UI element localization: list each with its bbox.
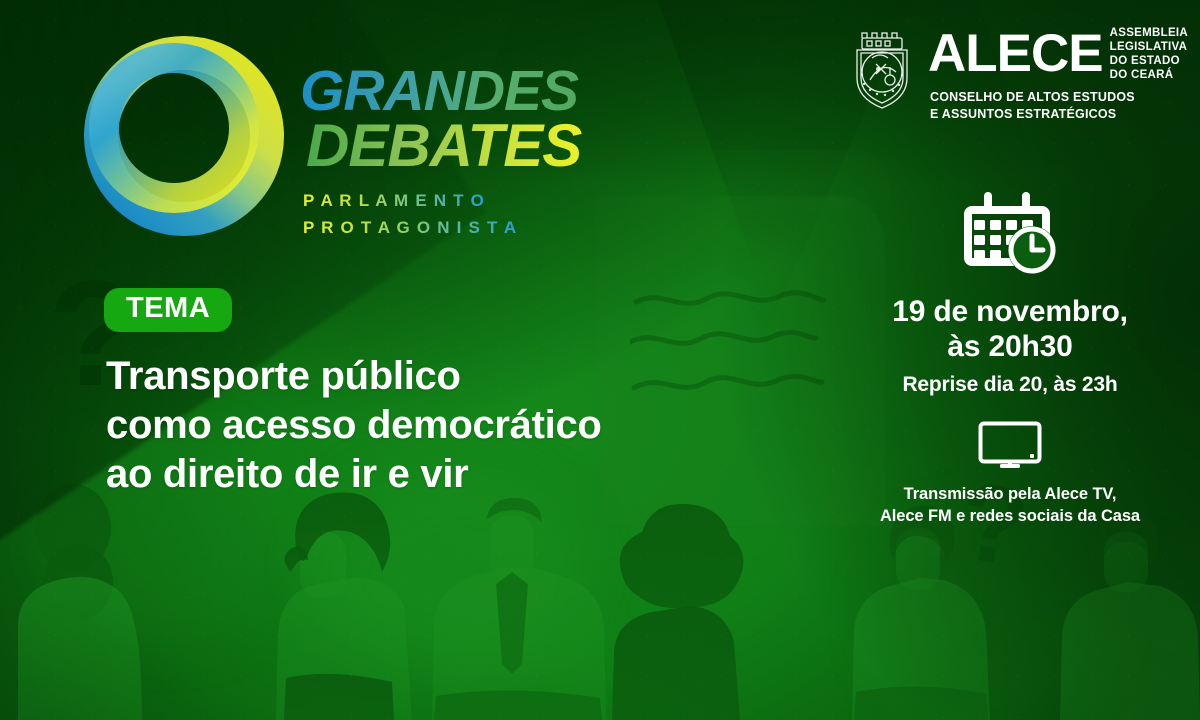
calendar-clock-icon	[964, 190, 1056, 276]
alece-subtitle-line-1: ASSEMBLEIA	[1110, 26, 1188, 40]
event-date-line-2: às 20h30	[840, 329, 1180, 364]
ceara-coat-of-arms-icon	[848, 28, 916, 112]
alece-title-row: ALECE ASSEMBLEIA LEGISLATIVA DO ESTADO D…	[928, 26, 1188, 82]
broadcast-line-2: Alece FM e redes sociais da Casa	[840, 505, 1180, 527]
svg-text:DEBATES: DEBATES	[306, 112, 582, 179]
ring-logo-icon	[78, 30, 290, 242]
alece-council-text: CONSELHO DE ALTOS ESTUDOS E ASSUNTOS EST…	[930, 89, 1188, 122]
page-title: Transporte público como acesso democráti…	[106, 352, 602, 498]
tema-badge: TEMA	[104, 288, 232, 332]
alece-text-block: ALECE ASSEMBLEIA LEGISLATIVA DO ESTADO D…	[928, 26, 1188, 122]
schedule-info-panel: 19 de novembro, às 20h30 Reprise dia 20,…	[840, 190, 1180, 528]
television-icon	[978, 421, 1042, 471]
broadcast-info: Transmissão pela Alece TV, Alece FM e re…	[840, 483, 1180, 528]
svg-text:P A R L A M E N T O: P A R L A M E N T O	[303, 191, 485, 210]
headline-line-2: como acesso democrático	[106, 401, 602, 450]
alece-council-line-2: E ASSUNTOS ESTRATÉGICOS	[930, 106, 1188, 123]
event-date: 19 de novembro, às 20h30	[840, 294, 1180, 365]
alece-wordmark: ALECE	[928, 29, 1103, 79]
brand-subtitle: P A R L A M E N T O P R O T A G O N I S …	[303, 188, 573, 249]
brand-wordmark: GRANDES DEBATES	[300, 58, 600, 191]
grandes-debates-logo	[78, 30, 290, 247]
brand-wordmark-svg: GRANDES DEBATES	[300, 58, 600, 186]
alece-subtitle-line-2: LEGISLATIVA	[1110, 40, 1188, 54]
headline-line-1: Transporte público	[106, 352, 602, 401]
alece-subtitle: ASSEMBLEIA LEGISLATIVA DO ESTADO DO CEAR…	[1110, 26, 1188, 82]
poster-canvas: ? ?	[0, 0, 1200, 720]
event-date-line-1: 19 de novembro,	[840, 294, 1180, 329]
event-rerun: Reprise dia 20, às 23h	[840, 372, 1180, 397]
alece-council-line-1: CONSELHO DE ALTOS ESTUDOS	[930, 89, 1188, 106]
brand-subtitle-svg: P A R L A M E N T O P R O T A G O N I S …	[303, 188, 573, 244]
alece-subtitle-line-3: DO ESTADO	[1110, 54, 1188, 68]
svg-text:P R O T A G O N I S T A: P R O T A G O N I S T A	[303, 218, 517, 237]
broadcast-line-1: Transmissão pela Alece TV,	[840, 483, 1180, 505]
alece-subtitle-line-4: DO CEARÁ	[1110, 68, 1188, 82]
alece-logo: ALECE ASSEMBLEIA LEGISLATIVA DO ESTADO D…	[848, 26, 1188, 122]
headline-line-3: ao direito de ir e vir	[106, 450, 602, 499]
